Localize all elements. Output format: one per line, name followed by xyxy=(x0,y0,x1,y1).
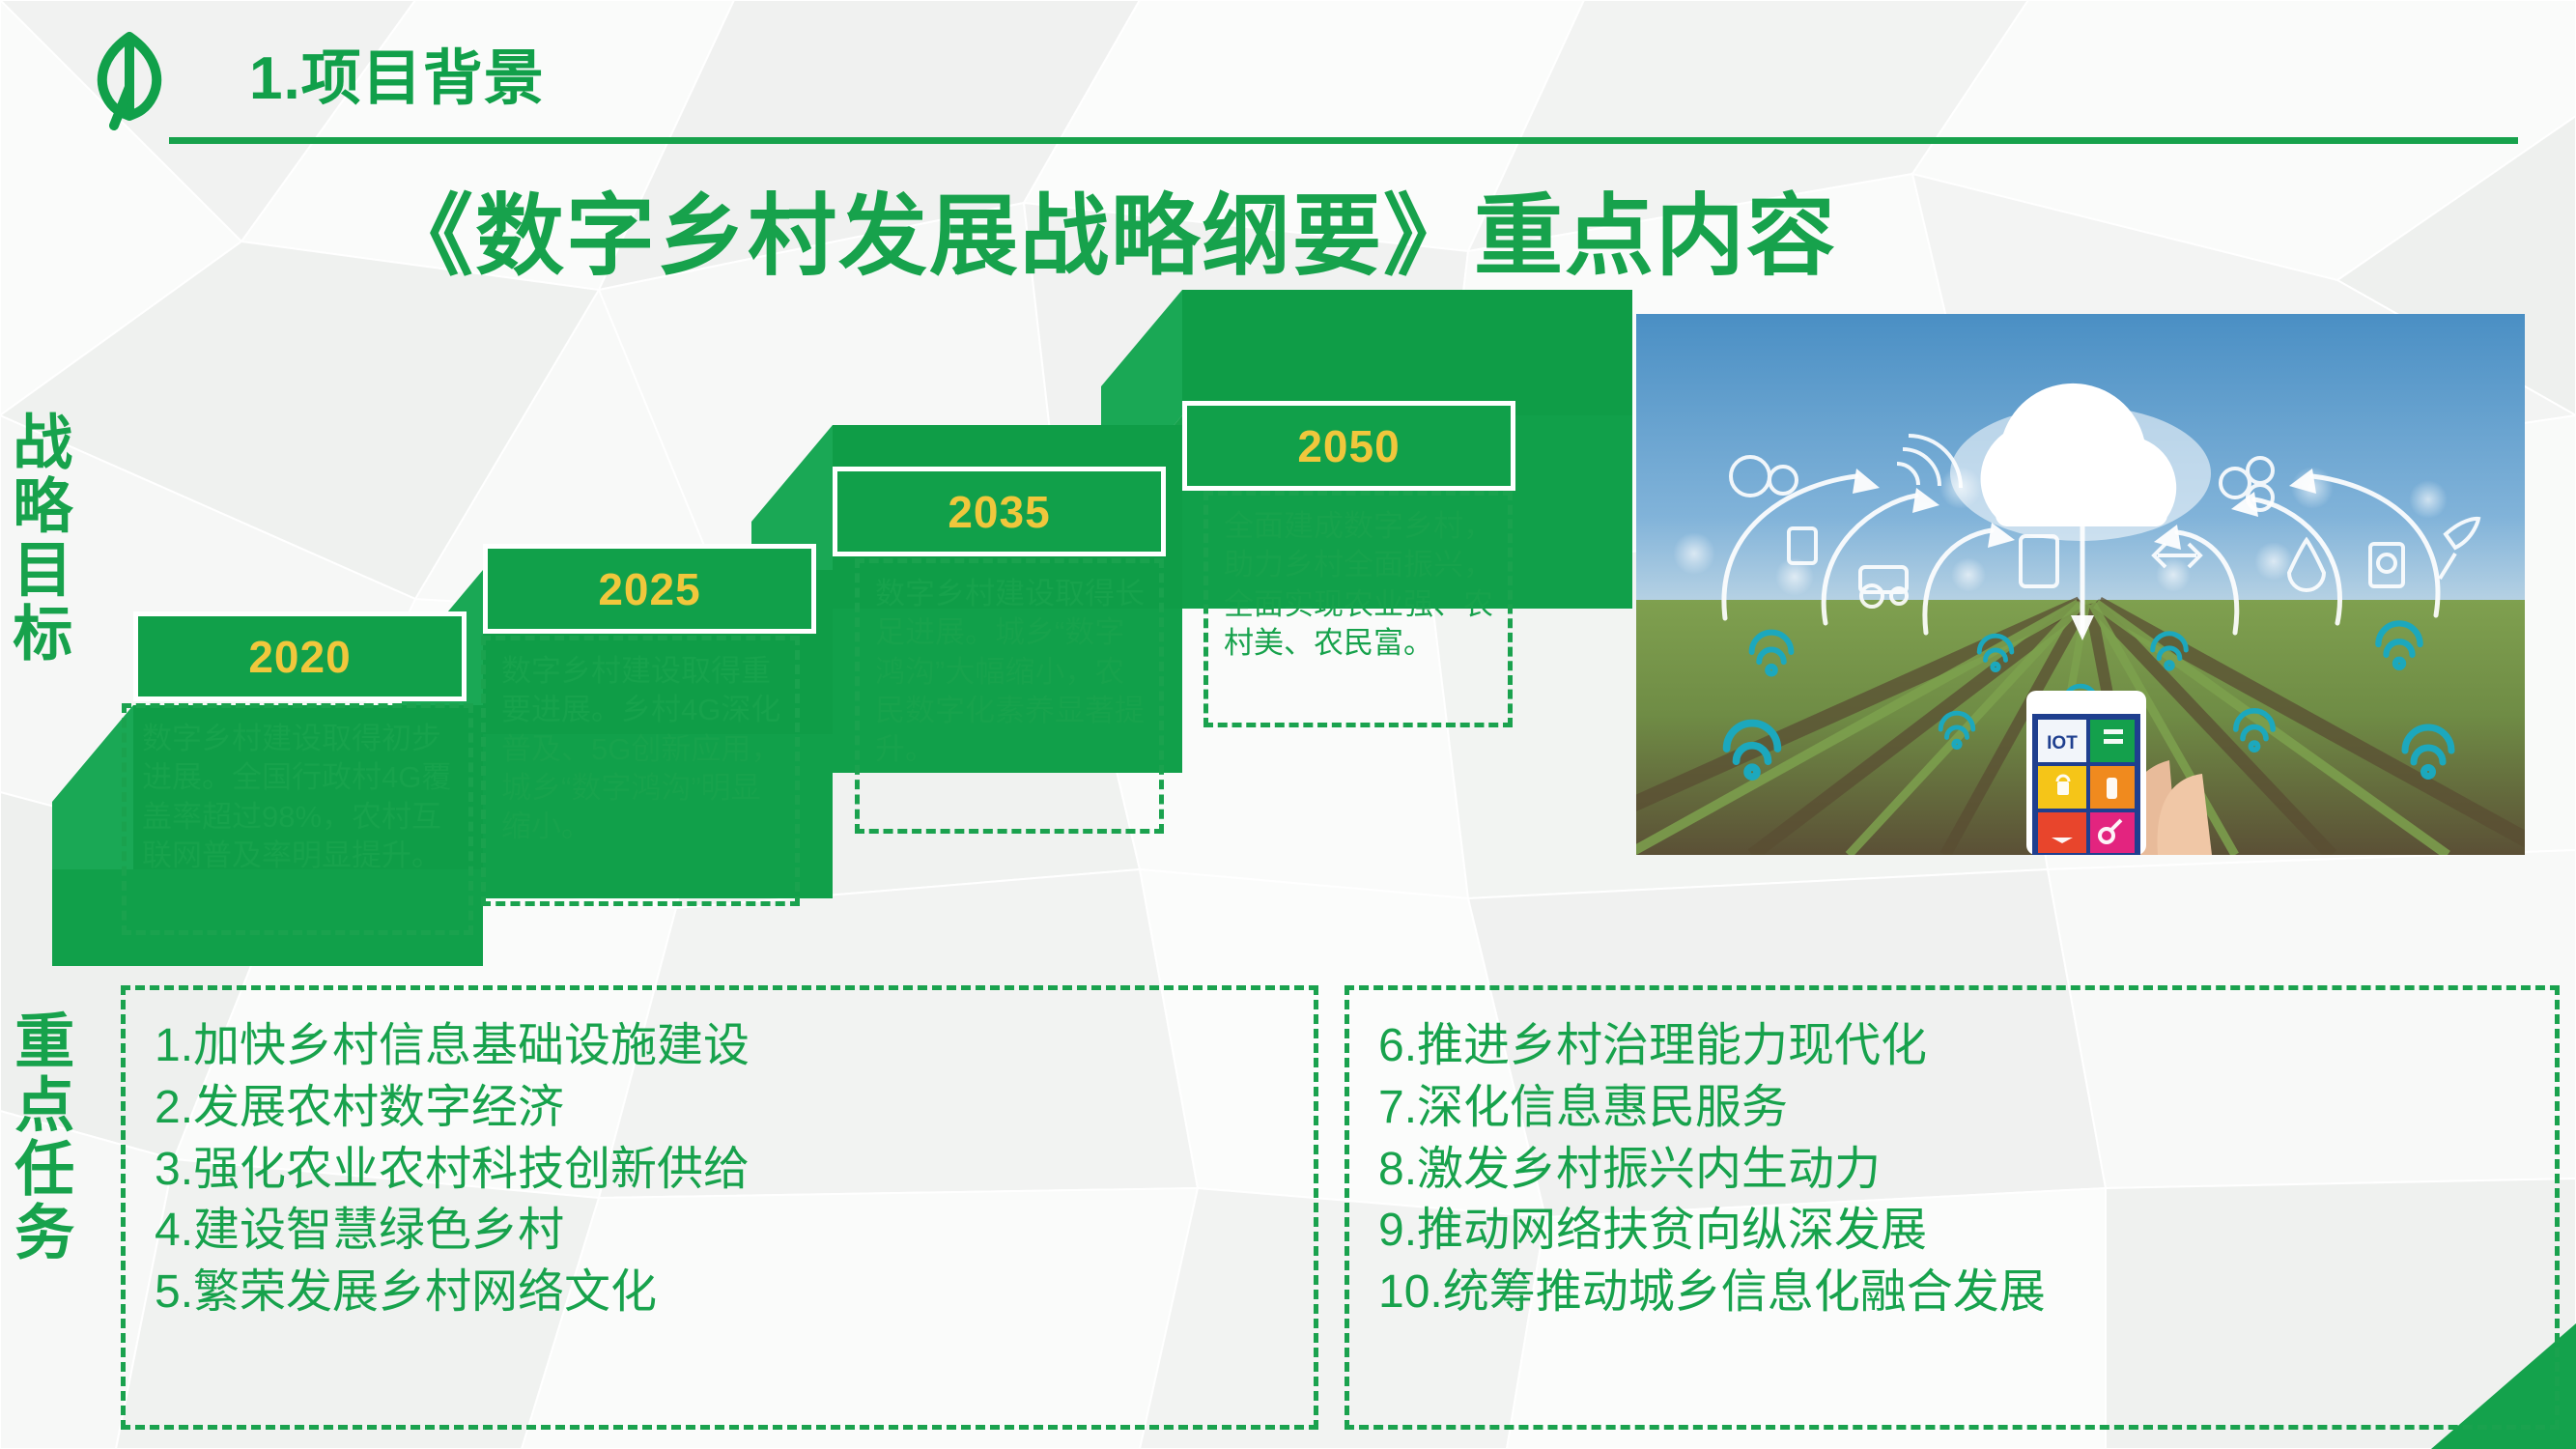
key-tasks-right-list: 6.推进乡村治理能力现代化 7.深化信息惠民服务 8.激发乡村振兴内生动力 9.… xyxy=(1378,1015,2526,1323)
section-label-key-tasks: 重点任务 xyxy=(8,1009,69,1264)
list-item: 4.建设智慧绿色乡村 xyxy=(155,1200,1285,1262)
photo-illustration: IOT xyxy=(1636,314,2525,855)
key-tasks-left-panel: 1.加快乡村信息基础设施建设 2.发展农村数字经济 3.强化农业农村科技创新供给… xyxy=(121,985,1318,1430)
main-heading: 《数字乡村发展战略纲要》重点内容 xyxy=(0,164,2222,293)
section-label-strategic-goals: 战略目标 xyxy=(6,411,67,666)
year-band-2050: 2050 xyxy=(1182,401,1515,491)
page-title: 1.项目背景 xyxy=(249,29,545,116)
year-band-2025: 2025 xyxy=(483,544,816,634)
year-band-2020: 2020 xyxy=(133,611,467,701)
list-item: 7.深化信息惠民服务 xyxy=(1378,1077,2526,1139)
roadmap-description-2025: 数字乡村建设取得重要进展。乡村4G深化普及、5G创新应用，城乡“数字鸿沟”明显缩… xyxy=(481,636,800,906)
list-item: 10.统筹推动城乡信息化融合发展 xyxy=(1378,1262,2526,1323)
list-item: 9.推动网络扶贫向纵深发展 xyxy=(1378,1200,2526,1262)
year-label: 2020 xyxy=(248,631,351,683)
year-band-2035: 2035 xyxy=(833,467,1166,556)
year-label: 2025 xyxy=(598,563,700,615)
header-divider xyxy=(169,137,2518,144)
svg-text:IOT: IOT xyxy=(2047,733,2078,753)
list-item: 5.繁荣发展乡村网络文化 xyxy=(155,1262,1285,1323)
year-label: 2035 xyxy=(948,486,1050,538)
year-label: 2050 xyxy=(1297,420,1400,472)
list-item: 6.推进乡村治理能力现代化 xyxy=(1378,1015,2526,1077)
key-tasks-left-list: 1.加快乡村信息基础设施建设 2.发展农村数字经济 3.强化农业农村科技创新供给… xyxy=(155,1015,1285,1323)
list-item: 2.发展农村数字经济 xyxy=(155,1077,1285,1139)
roadmap-description-2020: 数字乡村建设取得初步进展。全国行政村4G覆盖率超过98%，农村互联网普及率明显提… xyxy=(122,703,473,935)
smart-agriculture-photo: IOT xyxy=(1636,314,2525,855)
slide-header: 1.项目背景 xyxy=(0,0,2576,150)
leaf-icon xyxy=(75,17,184,133)
list-item: 1.加快乡村信息基础设施建设 xyxy=(155,1015,1285,1077)
roadmap-description-2050: 全面建成数字乡村，助力乡村全面振兴，全面实现农业强、农村美、农民富。 xyxy=(1203,491,1513,727)
list-item: 3.强化农业农村科技创新供给 xyxy=(155,1139,1285,1201)
list-item: 8.激发乡村振兴内生动力 xyxy=(1378,1139,2526,1201)
roadmap-description-2035: 数字乡村建设取得长足进展。城乡“数字鸿沟”大幅缩小，农民数字化素养显著提升。 xyxy=(855,558,1164,834)
key-tasks-right-panel: 6.推进乡村治理能力现代化 7.深化信息惠民服务 8.激发乡村振兴内生动力 9.… xyxy=(1345,985,2560,1430)
